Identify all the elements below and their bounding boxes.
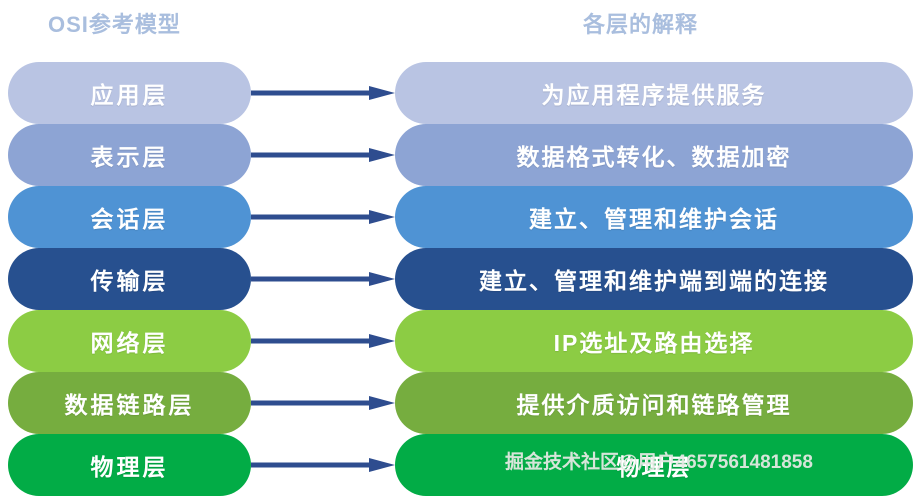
layer-description-bar[interactable]: 提供介质访问和链路管理 — [395, 372, 913, 434]
osi-layer-row: 物理层物理层 — [0, 434, 918, 496]
osi-layer-row: 表示层数据格式转化、数据加密 — [0, 124, 918, 186]
right-arrow-icon — [251, 396, 395, 410]
column-title-layer-explanation: 各层的解释 — [583, 7, 698, 39]
layer-description-bar[interactable]: 建立、管理和维护端到端的连接 — [395, 248, 913, 310]
layer-name-label: 传输层 — [91, 262, 169, 296]
right-arrow-icon — [251, 334, 395, 348]
layer-description-label: 建立、管理和维护端到端的连接 — [479, 262, 829, 296]
column-title-osi-model: OSI参考模型 — [48, 7, 181, 39]
layer-description-label: 建立、管理和维护会话 — [529, 200, 779, 234]
layer-name-bar[interactable]: 会话层 — [8, 186, 251, 248]
layer-name-bar[interactable]: 表示层 — [8, 124, 251, 186]
layer-description-label: 为应用程序提供服务 — [542, 76, 767, 110]
layer-name-label: 表示层 — [91, 138, 169, 172]
layer-name-bar[interactable]: 物理层 — [8, 434, 251, 496]
osi-layer-row: 数据链路层提供介质访问和链路管理 — [0, 372, 918, 434]
layer-name-bar[interactable]: 应用层 — [8, 62, 251, 124]
layer-description-label: 物理层 — [617, 448, 692, 482]
layer-name-bar[interactable]: 数据链路层 — [8, 372, 251, 434]
right-arrow-icon — [251, 458, 395, 472]
osi-layer-row: 网络层IP选址及路由选择 — [0, 310, 918, 372]
layer-description-label: IP选址及路由选择 — [554, 324, 755, 358]
layer-name-label: 应用层 — [91, 76, 169, 110]
layer-name-label: 数据链路层 — [65, 386, 195, 420]
layer-name-bar[interactable]: 网络层 — [8, 310, 251, 372]
osi-model-diagram: OSI参考模型 各层的解释 应用层为应用程序提供服务表示层数据格式转化、数据加密… — [0, 0, 918, 491]
layer-name-label: 会话层 — [91, 200, 169, 234]
right-arrow-icon — [251, 86, 395, 100]
layer-description-bar[interactable]: IP选址及路由选择 — [395, 310, 913, 372]
layer-name-label: 物理层 — [91, 448, 169, 482]
layer-description-bar[interactable]: 建立、管理和维护会话 — [395, 186, 913, 248]
right-arrow-icon — [251, 272, 395, 286]
osi-layer-row: 传输层建立、管理和维护端到端的连接 — [0, 248, 918, 310]
right-arrow-icon — [251, 210, 395, 224]
layer-description-label: 提供介质访问和链路管理 — [517, 386, 792, 420]
osi-layer-row: 会话层建立、管理和维护会话 — [0, 186, 918, 248]
right-arrow-icon — [251, 148, 395, 162]
osi-layer-row: 应用层为应用程序提供服务 — [0, 62, 918, 124]
layer-description-bar[interactable]: 为应用程序提供服务 — [395, 62, 913, 124]
layer-name-label: 网络层 — [91, 324, 169, 358]
layer-description-bar[interactable]: 数据格式转化、数据加密 — [395, 124, 913, 186]
layer-description-label: 数据格式转化、数据加密 — [517, 138, 792, 172]
layer-description-bar[interactable]: 物理层 — [395, 434, 913, 496]
layer-name-bar[interactable]: 传输层 — [8, 248, 251, 310]
